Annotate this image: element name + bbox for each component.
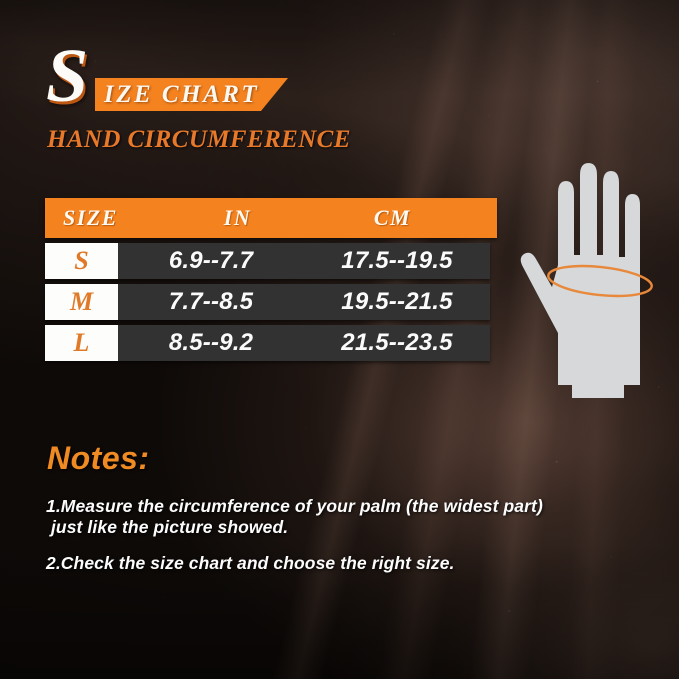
table-row: S 6.9--7.7 17.5--19.5 [45, 243, 490, 279]
title-block: S IZE CHART [46, 46, 346, 116]
cell-in-value: 8.5--9.2 [118, 325, 304, 361]
cell-size-label: L [45, 325, 118, 361]
table-header-row: SIZE IN CM [45, 198, 497, 238]
table-row: M 7.7--8.5 19.5--21.5 [45, 284, 490, 320]
size-chart-image: S IZE CHART HAND CIRCUMFERENCE SIZE IN C… [0, 0, 679, 679]
cell-cm-value: 21.5--23.5 [304, 325, 490, 361]
hand-illustration [496, 163, 676, 413]
note-item: 2.Check the size chart and choose the ri… [46, 553, 455, 574]
cell-in-value: 7.7--8.5 [118, 284, 304, 320]
hand-silhouette-icon [521, 163, 640, 398]
cell-cm-value: 19.5--21.5 [304, 284, 490, 320]
note-item: 1.Measure the circumference of your palm… [46, 496, 543, 538]
page-title: IZE CHART [104, 82, 259, 107]
table-row: L 8.5--9.2 21.5--23.5 [45, 325, 490, 361]
cell-size-label: M [45, 284, 118, 320]
size-table: SIZE IN CM S 6.9--7.7 17.5--19.5 M 7.7--… [45, 198, 497, 361]
title-lead-letter: S [46, 38, 87, 114]
cell-size-label: S [45, 243, 118, 279]
cell-cm-value: 17.5--19.5 [304, 243, 490, 279]
cell-in-value: 6.9--7.7 [118, 243, 304, 279]
column-header-cm: CM [315, 205, 470, 231]
notes-heading: Notes: [47, 441, 150, 475]
column-header-size: SIZE [45, 205, 160, 231]
page-subtitle: HAND CIRCUMFERENCE [47, 126, 351, 154]
column-header-in: IN [160, 205, 315, 231]
